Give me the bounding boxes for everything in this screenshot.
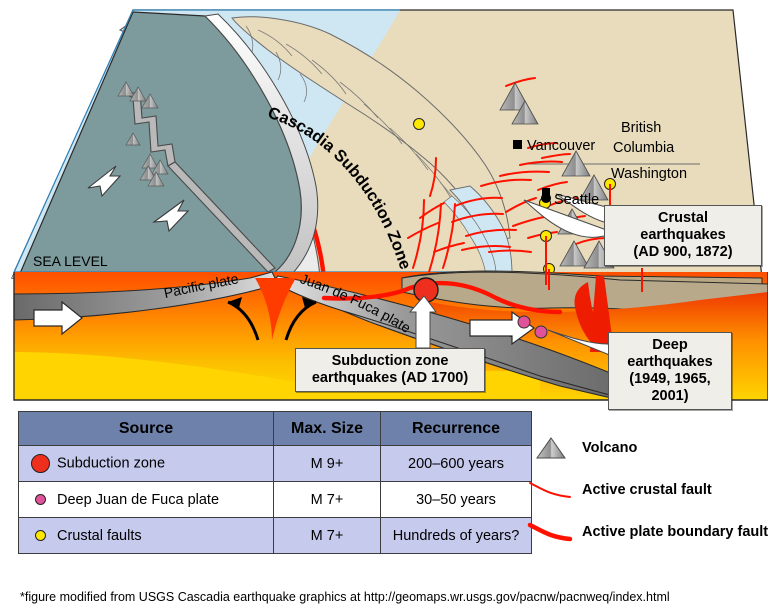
callout-subduction-line2: earthquakes (AD 1700)	[304, 370, 476, 387]
city-label-seattle: Seattle	[554, 192, 599, 208]
table-row: Subduction zone M 9+ 200–600 years	[19, 446, 532, 482]
legend-item-crustal-fault: Active crustal fault	[520, 469, 768, 511]
callout-deep-line2: earthquakes	[617, 354, 723, 371]
legend-label-crustal-fault: Active crustal fault	[582, 482, 712, 498]
table-cell-source: Crustal faults	[19, 518, 274, 554]
callout-deep-line4: 2001)	[617, 388, 723, 405]
table-cell-source: Deep Juan de Fuca plate	[19, 482, 274, 518]
earthquake-source-table: Source Max. Size Recurrence Subduction z…	[18, 411, 532, 554]
legend-label-volcano: Volcano	[582, 440, 637, 456]
table-cell-max-size: M 7+	[274, 518, 381, 554]
table-cell-source-label: Subduction zone	[57, 455, 165, 471]
thin-red-line-icon	[520, 477, 582, 503]
legend-label-plate-boundary-fault: Active plate boundary fault	[582, 524, 768, 540]
deep-jdf-dot	[35, 494, 46, 505]
table-cell-source-label: Deep Juan de Fuca plate	[57, 492, 219, 508]
table-cell-max-size: M 7+	[274, 482, 381, 518]
region-label-british-columbia-1: British	[621, 120, 661, 136]
callout-subduction-line1: Subduction zone	[304, 353, 476, 370]
sea-level-label: SEA LEVEL	[33, 253, 108, 269]
earthquake-source-table-wrapper: Source Max. Size Recurrence Subduction z…	[18, 411, 492, 554]
table-header-source: Source	[19, 412, 274, 446]
callout-crustal-line3: (AD 900, 1872)	[613, 244, 753, 261]
region-label-washington: Washington	[611, 166, 687, 182]
table-header-max-size: Max. Size	[274, 412, 381, 446]
table-row: Deep Juan de Fuca plate M 7+ 30–50 years	[19, 482, 532, 518]
crustal-fault-dot	[35, 530, 46, 541]
callout-subduction-zone-earthquakes: Subduction zone earthquakes (AD 1700)	[295, 348, 485, 392]
callout-deep-line3: (1949, 1965,	[617, 371, 723, 388]
city-label-vancouver: Vancouver	[527, 138, 595, 154]
map-legend: Volcano Active crustal fault Active plat…	[520, 427, 768, 553]
legend-item-plate-boundary-fault: Active plate boundary fault	[520, 511, 768, 553]
volcano-icon	[520, 435, 582, 461]
table-cell-recurrence: 30–50 years	[381, 482, 532, 518]
table-cell-max-size: M 9+	[274, 446, 381, 482]
table-cell-recurrence: 200–600 years	[381, 446, 532, 482]
legend-item-volcano: Volcano	[520, 427, 768, 469]
callout-crustal-line2: earthquakes	[613, 227, 753, 244]
callout-deep-line1: Deep	[617, 337, 723, 354]
callout-deep-earthquakes: Deep earthquakes (1949, 1965, 2001)	[608, 332, 732, 410]
source-footnote: *figure modified from USGS Cascadia eart…	[20, 590, 670, 604]
table-header-row: Source Max. Size Recurrence	[19, 412, 532, 446]
subduction-zone-dot	[31, 454, 50, 473]
table-row: Crustal faults M 7+ Hundreds of years?	[19, 518, 532, 554]
table-header-recurrence: Recurrence	[381, 412, 532, 446]
table-cell-source: Subduction zone	[19, 446, 274, 482]
thick-red-line-icon	[520, 519, 582, 545]
region-label-british-columbia-2: Columbia	[613, 140, 675, 156]
table-cell-source-label: Crustal faults	[57, 528, 142, 544]
callout-crustal-line1: Crustal	[613, 210, 753, 227]
callout-crustal-earthquakes: Crustal earthquakes (AD 900, 1872)	[604, 205, 762, 266]
table-cell-recurrence: Hundreds of years?	[381, 518, 532, 554]
